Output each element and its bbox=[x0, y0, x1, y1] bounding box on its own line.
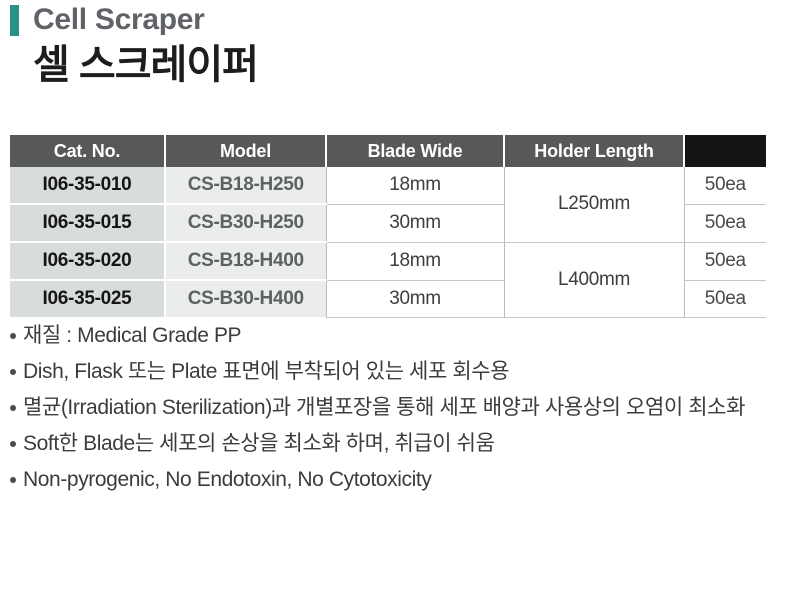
bullet-dot-icon bbox=[10, 369, 16, 375]
cell-blade-wide: 30mm bbox=[326, 204, 504, 242]
product-title-block: Cell Scraper 셀 스크레이퍼 bbox=[0, 0, 800, 88]
title-row-english: Cell Scraper bbox=[0, 0, 800, 40]
cell-holder-length: L250mm bbox=[504, 167, 684, 242]
bullet-dot-icon bbox=[10, 441, 16, 447]
column-header-blade-wide: Blade Wide bbox=[326, 135, 504, 167]
feature-list: 재질 : Medical Grade PP Dish, Flask 또는 Pla… bbox=[10, 320, 790, 500]
specification-table: Cat. No. Model Blade Wide Holder Length … bbox=[10, 135, 766, 318]
cell-cat-no: I06-35-020 bbox=[10, 242, 165, 280]
column-header-model: Model bbox=[165, 135, 326, 167]
feature-text: Dish, Flask 또는 Plate 표면에 부착되어 있는 세포 회수용 bbox=[23, 356, 790, 387]
feature-text: Non-pyrogenic, No Endotoxin, No Cytotoxi… bbox=[23, 464, 790, 495]
cell-quantity: 50ea bbox=[684, 242, 766, 280]
list-item: 멸균(Irradiation Sterilization)과 개별포장을 통해 … bbox=[10, 392, 790, 423]
cell-quantity: 50ea bbox=[684, 204, 766, 242]
cell-blade-wide: 30mm bbox=[326, 280, 504, 317]
accent-bar-decoration bbox=[10, 5, 19, 36]
cell-model: CS-B30-H250 bbox=[165, 204, 326, 242]
list-item: Dish, Flask 또는 Plate 표면에 부착되어 있는 세포 회수용 bbox=[10, 356, 790, 387]
specification-table-container: Cat. No. Model Blade Wide Holder Length … bbox=[10, 135, 766, 318]
cell-blade-wide: 18mm bbox=[326, 242, 504, 280]
table-row: I06-35-010 CS-B18-H250 18mm L250mm 50ea bbox=[10, 167, 766, 204]
list-item: Non-pyrogenic, No Endotoxin, No Cytotoxi… bbox=[10, 464, 790, 495]
cell-blade-wide: 18mm bbox=[326, 167, 504, 204]
list-item: 재질 : Medical Grade PP bbox=[10, 320, 790, 351]
page-title-english: Cell Scraper bbox=[33, 3, 205, 37]
cell-model: CS-B30-H400 bbox=[165, 280, 326, 317]
table-row: I06-35-020 CS-B18-H400 18mm L400mm 50ea bbox=[10, 242, 766, 280]
column-header-holder-length: Holder Length bbox=[504, 135, 684, 167]
table-header-row: Cat. No. Model Blade Wide Holder Length bbox=[10, 135, 766, 167]
cell-cat-no: I06-35-015 bbox=[10, 204, 165, 242]
column-header-quantity bbox=[684, 135, 766, 167]
page-title-korean: 셀 스크레이퍼 bbox=[33, 42, 800, 88]
bullet-dot-icon bbox=[10, 405, 16, 411]
feature-text: Soft한 Blade는 세포의 손상을 최소화 하며, 취급이 쉬움 bbox=[23, 428, 790, 459]
cell-cat-no: I06-35-025 bbox=[10, 280, 165, 317]
bullet-dot-icon bbox=[10, 333, 16, 339]
cell-quantity: 50ea bbox=[684, 167, 766, 204]
feature-text: 재질 : Medical Grade PP bbox=[23, 320, 790, 351]
cell-cat-no: I06-35-010 bbox=[10, 167, 165, 204]
table-header: Cat. No. Model Blade Wide Holder Length bbox=[10, 135, 766, 167]
cell-model: CS-B18-H250 bbox=[165, 167, 326, 204]
cell-quantity: 50ea bbox=[684, 280, 766, 317]
bullet-dot-icon bbox=[10, 477, 16, 483]
cell-holder-length: L400mm bbox=[504, 242, 684, 317]
table-body: I06-35-010 CS-B18-H250 18mm L250mm 50ea … bbox=[10, 167, 766, 317]
column-header-cat-no: Cat. No. bbox=[10, 135, 165, 167]
feature-text: 멸균(Irradiation Sterilization)과 개별포장을 통해 … bbox=[23, 392, 790, 423]
list-item: Soft한 Blade는 세포의 손상을 최소화 하며, 취급이 쉬움 bbox=[10, 428, 790, 459]
cell-model: CS-B18-H400 bbox=[165, 242, 326, 280]
